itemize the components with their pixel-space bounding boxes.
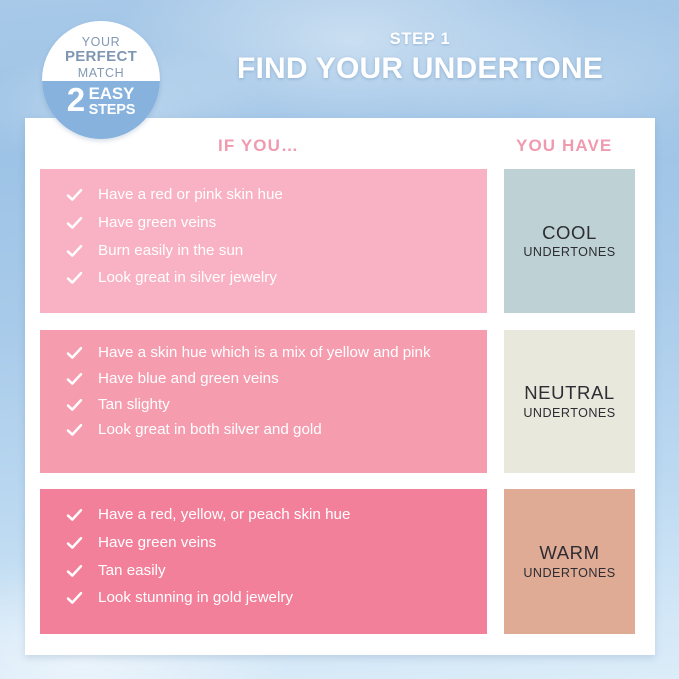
trait-text: Burn easily in the sun: [98, 241, 243, 261]
trait-panel: Have a skin hue which is a mix of yellow…: [40, 330, 487, 473]
undertone-row: Have a red or pink skin hue Have green v…: [40, 169, 635, 313]
trait-text: Look great in both silver and gold: [98, 420, 322, 440]
undertone-name: NEUTRAL: [524, 383, 615, 403]
trait-item: Have green veins: [66, 533, 473, 553]
trait-item: Look great in both silver and gold: [66, 420, 473, 440]
trait-item: Look stunning in gold jewelry: [66, 588, 473, 608]
undertone-name: COOL: [542, 223, 597, 243]
badge-line-match: MATCH: [78, 66, 125, 81]
perfect-match-badge: YOUR PERFECT MATCH 2 EASY STEPS: [42, 21, 160, 139]
check-icon: [66, 270, 83, 287]
trait-panel: Have a red or pink skin hue Have green v…: [40, 169, 487, 313]
undertone-sublabel: UNDERTONES: [523, 245, 615, 259]
undertone-row: Have a red, yellow, or peach skin hue Ha…: [40, 489, 635, 634]
trait-text: Have green veins: [98, 533, 216, 553]
trait-text: Have a red, yellow, or peach skin hue: [98, 505, 350, 525]
check-icon: [66, 215, 83, 232]
undertone-name: WARM: [539, 543, 599, 563]
trait-item: Have a red or pink skin hue: [66, 185, 473, 205]
badge-step-count: 2: [67, 84, 85, 115]
trait-item: Have a skin hue which is a mix of yellow…: [66, 343, 473, 363]
check-icon: [66, 590, 83, 607]
check-icon: [66, 243, 83, 260]
step-label: STEP 1: [180, 30, 660, 49]
trait-panel: Have a red, yellow, or peach skin hue Ha…: [40, 489, 487, 634]
badge-line-your: YOUR: [82, 35, 121, 49]
column-heading-you-have: YOU HAVE: [516, 136, 612, 156]
trait-text: Tan easily: [98, 561, 166, 581]
poster-header: STEP 1 FIND YOUR UNDERTONE: [180, 30, 660, 86]
check-icon: [66, 345, 83, 362]
undertone-swatch: WARM UNDERTONES: [504, 489, 635, 634]
trait-text: Look stunning in gold jewelry: [98, 588, 293, 608]
undertone-swatch: NEUTRAL UNDERTONES: [504, 330, 635, 473]
check-icon: [66, 397, 83, 414]
undertone-sublabel: UNDERTONES: [523, 406, 615, 420]
infographic-poster: YOUR PERFECT MATCH 2 EASY STEPS STEP 1 F…: [0, 0, 679, 679]
trait-item: Have blue and green veins: [66, 369, 473, 389]
trait-item: Tan easily: [66, 561, 473, 581]
page-title: FIND YOUR UNDERTONE: [180, 52, 660, 86]
badge-easy-label: EASY: [89, 86, 135, 103]
undertone-row: Have a skin hue which is a mix of yellow…: [40, 330, 635, 473]
trait-text: Have a red or pink skin hue: [98, 185, 283, 205]
trait-item: Have green veins: [66, 213, 473, 233]
check-icon: [66, 422, 83, 439]
trait-item: Look great in silver jewelry: [66, 268, 473, 288]
trait-item: Have a red, yellow, or peach skin hue: [66, 505, 473, 525]
trait-item: Burn easily in the sun: [66, 241, 473, 261]
check-icon: [66, 187, 83, 204]
trait-item: Tan slighty: [66, 395, 473, 415]
column-heading-if-you: IF YOU…: [218, 136, 299, 156]
badge-steps-label: STEPS: [89, 103, 136, 118]
badge-steps-group: 2 EASY STEPS: [67, 84, 135, 118]
badge-content: YOUR PERFECT MATCH 2 EASY STEPS: [42, 21, 160, 139]
badge-easy-steps: EASY STEPS: [89, 84, 136, 118]
check-icon: [66, 563, 83, 580]
trait-text: Tan slighty: [98, 395, 170, 415]
badge-line-perfect: PERFECT: [65, 49, 137, 66]
check-icon: [66, 371, 83, 388]
check-icon: [66, 535, 83, 552]
trait-text: Have green veins: [98, 213, 216, 233]
check-icon: [66, 507, 83, 524]
trait-text: Have blue and green veins: [98, 369, 279, 389]
undertone-sublabel: UNDERTONES: [523, 566, 615, 580]
undertone-swatch: COOL UNDERTONES: [504, 169, 635, 313]
trait-text: Have a skin hue which is a mix of yellow…: [98, 343, 431, 363]
trait-text: Look great in silver jewelry: [98, 268, 277, 288]
